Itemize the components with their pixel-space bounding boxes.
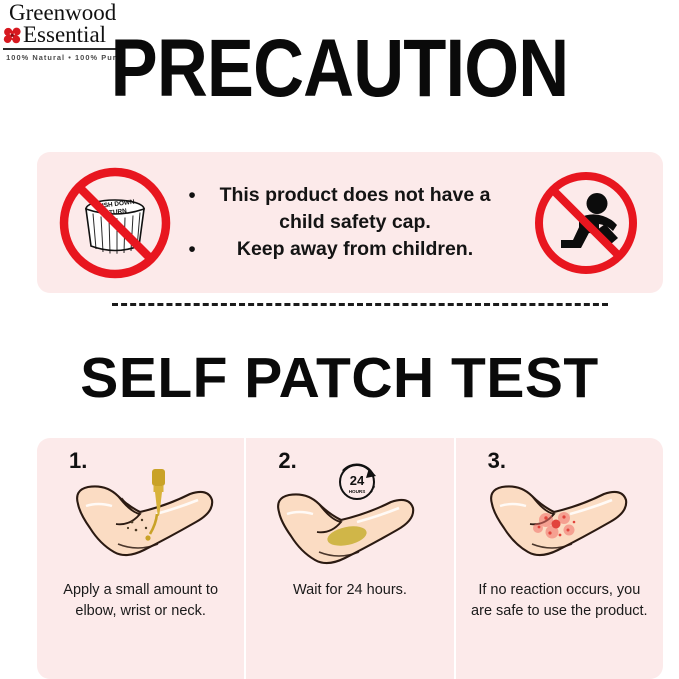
precaution-bullet-item: • This product does not have a child saf… (179, 182, 527, 236)
bullet-glyph: • (179, 236, 205, 263)
no-child-safety-cap-icon: PUSH DOWN & TURN (55, 163, 175, 283)
red-flower-icon (3, 26, 22, 45)
precaution-bullet-text-1: This product does not have a child safet… (205, 182, 527, 236)
patch-test-step-2: 2. 24 HOURS Wait for 24 hou (244, 438, 453, 679)
step-number-1: 1. (69, 448, 87, 474)
step-caption-2: Wait for 24 hours. (281, 580, 419, 601)
precaution-bullet-list: • This product does not have a child saf… (175, 182, 531, 263)
twenty-four-hours-badge: 24 HOURS (340, 465, 376, 499)
step-caption-3: If no reaction occurs, you are safe to u… (456, 580, 663, 622)
self-patch-test-panel: 1. (37, 438, 663, 679)
patch-test-step-3: 3. (454, 438, 663, 679)
precaution-bullet-item: • Keep away from children. (179, 236, 527, 263)
precaution-panel: PUSH DOWN & TURN • This product does not… (37, 152, 663, 293)
svg-text:HOURS: HOURS (349, 489, 366, 494)
brand-name-line1: Greenwood (3, 2, 127, 24)
step-number-3: 3. (488, 448, 506, 474)
svg-text:24: 24 (350, 473, 365, 488)
no-children-icon (531, 168, 641, 278)
precaution-heading: PRECAUTION (48, 28, 632, 110)
bullet-glyph: • (179, 182, 205, 209)
self-patch-test-heading: SELF PATCH TEST (0, 348, 679, 408)
step-number-2: 2. (278, 448, 296, 474)
step-caption-1: Apply a small amount to elbow, wrist or … (37, 580, 244, 622)
precaution-bullet-text-2: Keep away from children. (205, 236, 527, 263)
patch-test-step-1: 1. (37, 438, 244, 679)
section-divider (112, 303, 608, 306)
